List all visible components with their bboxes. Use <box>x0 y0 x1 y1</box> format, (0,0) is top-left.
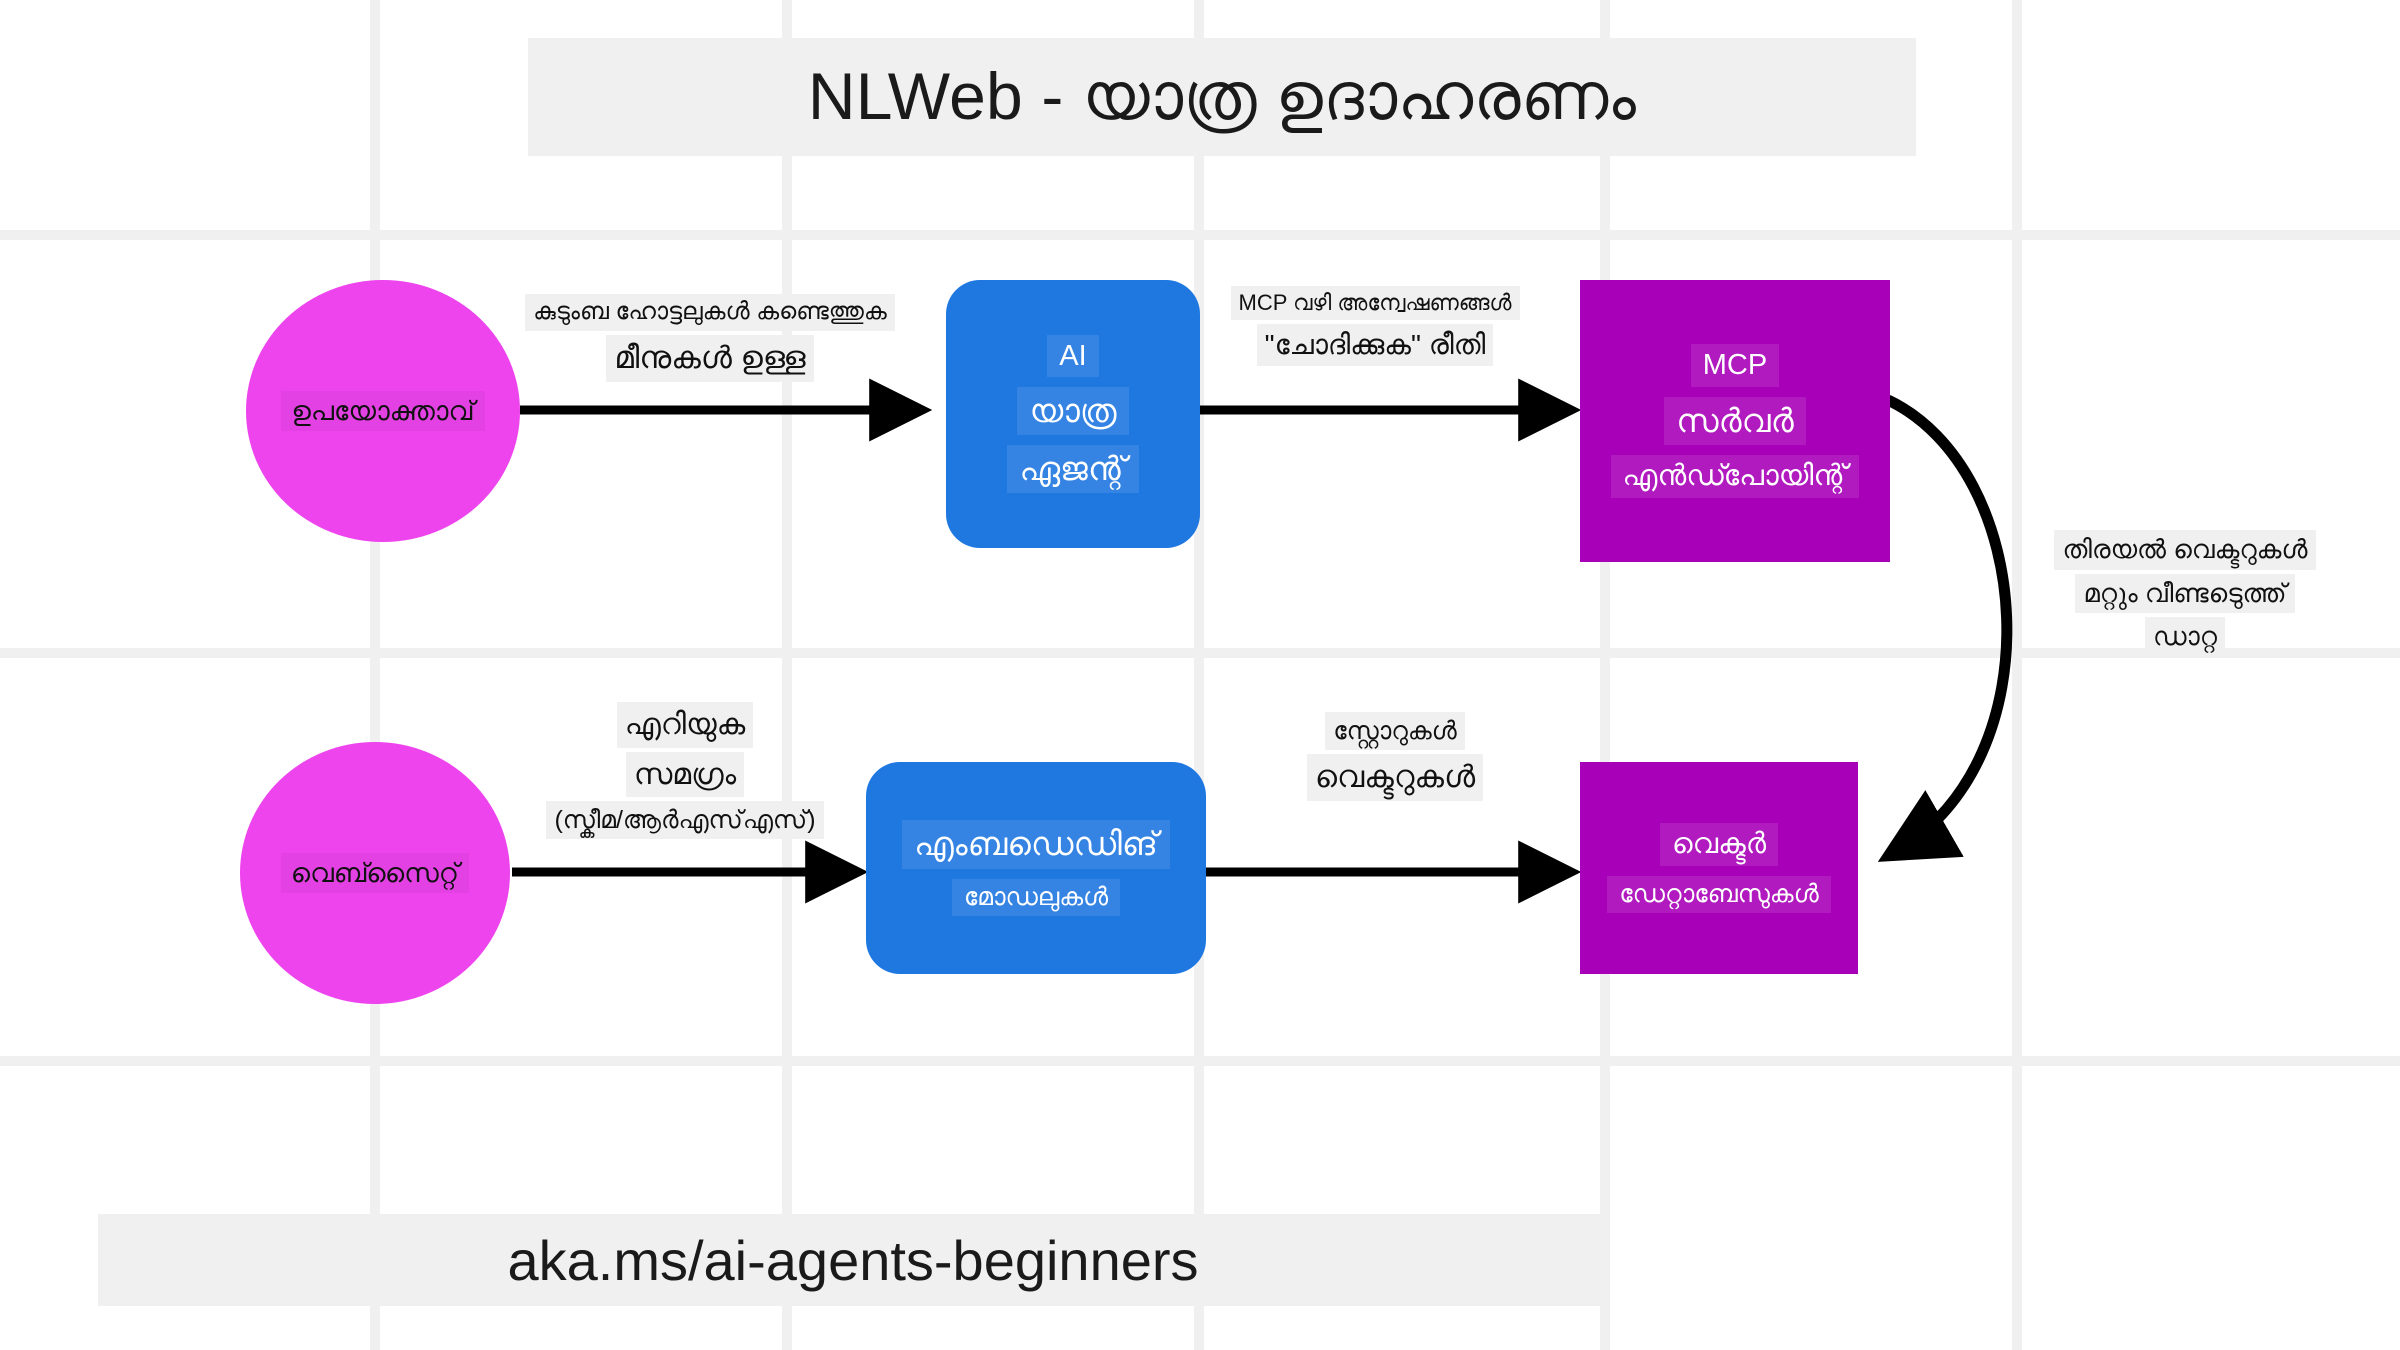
footer-link[interactable]: aka.ms/ai-agents-beginners <box>98 1214 1608 1306</box>
node-mcp-server-line3: എൻഡ്പോയിന്റ് <box>1611 455 1860 498</box>
edge-label-mcp-to-vectordb: തിരയൽ വെക്ടറുകൾ മറ്റും വീണ്ടടെുത്ത് ഡാറ്… <box>2020 528 2350 659</box>
edge-label-agent-to-mcp-line1: MCP വഴി അന്വേഷണങ്ങൾ <box>1231 286 1520 320</box>
edge-label-agent-to-mcp-line2: "ചോദിക്കുക" രീതി <box>1257 324 1494 367</box>
edge-label-agent-to-mcp: MCP വഴി അന്വേഷണങ്ങൾ "ചോദിക്കുക" രീതി <box>1180 284 1570 368</box>
node-ai-travel-agent-line3: ഏജന്റ് <box>1007 445 1138 493</box>
edge-label-mcp-to-vectordb-line3: ഡാറ്റ <box>2145 617 2225 657</box>
node-user-label: ഉപയോക്താവ് <box>281 391 484 431</box>
node-vector-databases[interactable]: വെക്ടർ ഡേറ്റാബേസുകൾ <box>1580 762 1858 974</box>
edge-label-user-to-agent-line1: കുടുംബ ഹോട്ടലുകൾ കണ്ടെത്തുക <box>525 294 895 331</box>
node-ai-travel-agent-line1: AI <box>1047 335 1098 378</box>
node-embedding-models-line1: എംബഡെഡിങ് <box>902 820 1170 868</box>
edge-label-mcp-to-vectordb-line2: മറ്റും വീണ്ടടെുത്ത് <box>2075 574 2294 614</box>
node-embedding-models-line2: മോഡലുകൾ <box>952 879 1120 916</box>
edge-label-user-to-agent-line2: മീനുകൾ ഉള്ള <box>606 335 813 382</box>
edge-label-website-to-embedding-line2: സമഗ്രം <box>626 752 744 798</box>
node-ai-travel-agent-line2: യാത്ര <box>1017 387 1128 435</box>
diagram-canvas: ഉദാഹരണം ഉപയോക്താവ് AI യാത്ര ഏജന്റ് MCP സ… <box>0 0 2400 1350</box>
node-user[interactable]: ഉപയോക്താവ് <box>246 280 520 542</box>
edge-label-website-to-embedding-line3: (സ്കീമ/ആർഎസ്എസ്) <box>546 801 823 839</box>
node-vector-databases-line1: വെക്ടർ <box>1660 823 1778 866</box>
edge-label-user-to-agent: കുടുംബ ഹോട്ടലുകൾ കണ്ടെത്തുക മീനുകൾ ഉള്ള <box>500 292 920 384</box>
edge-label-embedding-to-vectordb: സ്റ്റോറുകൾ വെക്ടറുകൾ <box>1225 710 1565 803</box>
node-embedding-models[interactable]: എംബഡെഡിങ് മോഡലുകൾ <box>866 762 1206 974</box>
edge-label-website-to-embedding-line1: എറിയുക <box>617 702 754 748</box>
node-vector-databases-line2: ഡേറ്റാബേസുകൾ <box>1607 876 1830 913</box>
edge-mcp-to-vectordb <box>1888 400 2007 852</box>
edge-label-website-to-embedding: എറിയുക സമഗ്രം (സ്കീമ/ആർഎസ്എസ്) <box>530 700 840 841</box>
node-mcp-server-line2: സർവർ <box>1664 397 1805 445</box>
node-website[interactable]: വെബ്സൈറ്റ് <box>240 742 510 1004</box>
node-website-label: വെബ്സൈറ്റ് <box>281 853 469 893</box>
edge-label-mcp-to-vectordb-line1: തിരയൽ വെക്ടറുകൾ <box>2054 530 2315 570</box>
node-mcp-server[interactable]: MCP സർവർ എൻഡ്പോയിന്റ് <box>1580 280 1890 562</box>
edge-label-embedding-to-vectordb-line2: വെക്ടറുകൾ <box>1307 754 1483 801</box>
edge-label-embedding-to-vectordb-line1: സ്റ്റോറുകൾ <box>1325 712 1465 750</box>
edge-layer <box>0 0 2400 1350</box>
node-ai-travel-agent[interactable]: AI യാത്ര ഏജന്റ് <box>946 280 1200 548</box>
page-title: NLWeb - യാത്ര ഉദാഹരണം <box>528 38 1916 156</box>
node-mcp-server-line1: MCP <box>1691 344 1779 387</box>
